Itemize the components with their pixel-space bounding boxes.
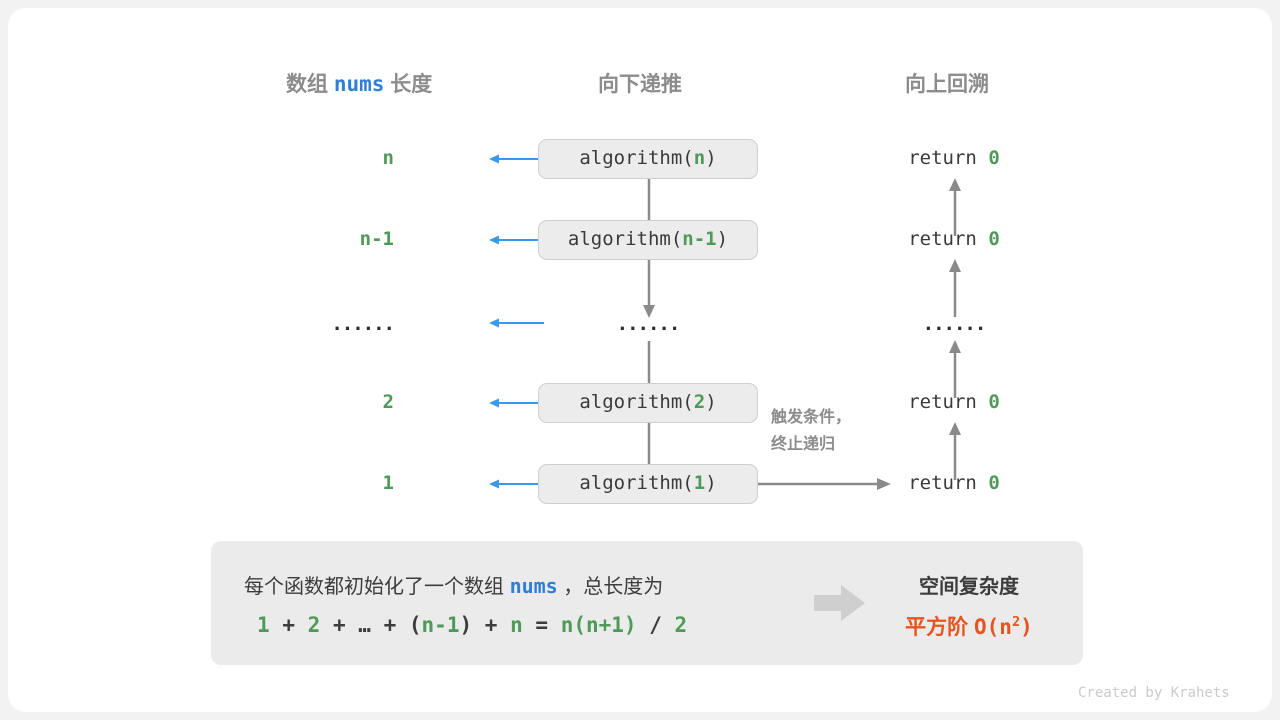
call-box-suffix-3: ) [705, 391, 716, 413]
return-keyword-4: return [908, 472, 977, 494]
right-arrow-icon [814, 585, 866, 621]
call-box-suffix-1: ) [717, 228, 728, 250]
size-label-row-4: 1 [308, 472, 394, 494]
formula-paren-open: ( [409, 613, 422, 637]
diagram-card: 数组 nums 长度 向下递推 向上回溯 n algorithm(n) retu… [8, 8, 1272, 712]
return-label-row-4: return 0 [874, 472, 1034, 494]
formula-term-2: 2 [308, 613, 321, 637]
call-box-arg-1: n-1 [682, 228, 716, 250]
size-label-row-0: n [308, 147, 394, 169]
call-box-suffix-4: ) [705, 472, 716, 494]
call-box-suffix-0: ) [705, 147, 716, 169]
formula-ellipsis: … [358, 613, 371, 637]
base-case-arrow [758, 472, 892, 496]
header-left-nums: nums [334, 72, 385, 96]
formula-term-1: 1 [257, 613, 270, 637]
call-box-row-2: ······ [538, 318, 758, 340]
call-box-prefix-3: algorithm( [579, 391, 693, 413]
formula-term-nm1: n-1 [422, 613, 460, 637]
base-case-note-line2: 终止递归 [771, 431, 851, 458]
return-label-row-3: return 0 [874, 391, 1034, 413]
summary-panel: 每个函数都初始化了一个数组 nums ，总长度为 1 + 2 + … + (n-… [211, 541, 1083, 665]
formula-term-n: n [510, 613, 523, 637]
return-keyword-1: return [908, 228, 977, 250]
formula-slash: / [649, 613, 662, 637]
call-box-arg-3: 2 [694, 391, 705, 413]
formula-op-1: + [282, 613, 295, 637]
return-label-row-0: return 0 [874, 147, 1034, 169]
call-box-arg-4: 1 [694, 472, 705, 494]
return-value-4: 0 [988, 472, 999, 494]
summary-text-part1: 每个函数都初始化了一个数组 [244, 576, 504, 598]
complexity-value: 平方阶 O(n2) [874, 611, 1064, 641]
return-keyword-0: return [908, 147, 977, 169]
return-value-0: 0 [988, 147, 999, 169]
base-case-note-line1: 触发条件， [771, 404, 851, 431]
formula-op-4: + [485, 613, 498, 637]
summary-text-line: 每个函数都初始化了一个数组 nums ，总长度为 [244, 570, 663, 599]
return-value-1: 0 [988, 228, 999, 250]
formula-divisor: 2 [675, 613, 688, 637]
return-keyword-3: return [908, 391, 977, 413]
summary-formula-line: 1 + 2 + … + (n-1) + n = n(n+1) / 2 [257, 613, 687, 637]
call-box-row-3[interactable]: algorithm(2) [538, 383, 758, 423]
call-box-row-1[interactable]: algorithm(n-1) [538, 220, 758, 260]
size-label-row-3: 2 [308, 391, 394, 413]
complexity-label: 平方阶 [905, 616, 968, 639]
header-left-column: 数组 nums 长度 [286, 68, 432, 98]
return-value-3: 0 [988, 391, 999, 413]
up-arrow-1 [944, 259, 966, 319]
base-case-note: 触发条件， 终止递归 [771, 404, 851, 458]
call-box-row-0[interactable]: algorithm(n) [538, 139, 758, 179]
header-left-suffix: 长度 [390, 73, 432, 96]
formula-op-3: + [384, 613, 397, 637]
formula-paren-close: ) [459, 613, 472, 637]
call-box-prefix-1: algorithm( [568, 228, 682, 250]
call-box-prefix-0: algorithm( [579, 147, 693, 169]
formula-result: n(n+1) [561, 613, 637, 637]
call-box-prefix-4: algorithm( [579, 472, 693, 494]
call-box-row-4[interactable]: algorithm(1) [538, 464, 758, 504]
return-label-row-1: return 0 [874, 228, 1034, 250]
complexity-exponent: 2 [1012, 614, 1020, 630]
formula-op-2: + [333, 613, 346, 637]
complexity-title: 空间复杂度 [884, 570, 1054, 599]
summary-text-part2: ，总长度为 [563, 576, 663, 598]
header-right-column: 向上回溯 [905, 68, 989, 98]
complexity-notation: O(n [974, 615, 1012, 639]
size-label-row-1: n-1 [308, 228, 394, 250]
down-arrow-1 [638, 260, 660, 320]
size-label-row-2: ······ [308, 318, 394, 340]
call-box-arg-0: n [694, 147, 705, 169]
formula-equals: = [535, 613, 548, 637]
return-label-row-2: ······ [874, 318, 1034, 340]
header-left-prefix: 数组 [286, 73, 328, 96]
summary-nums-token: nums [510, 574, 558, 598]
credit-text: Created by Krahets [1078, 685, 1230, 701]
header-middle-column: 向下递推 [598, 68, 682, 98]
complexity-notation-end: ) [1020, 615, 1033, 639]
